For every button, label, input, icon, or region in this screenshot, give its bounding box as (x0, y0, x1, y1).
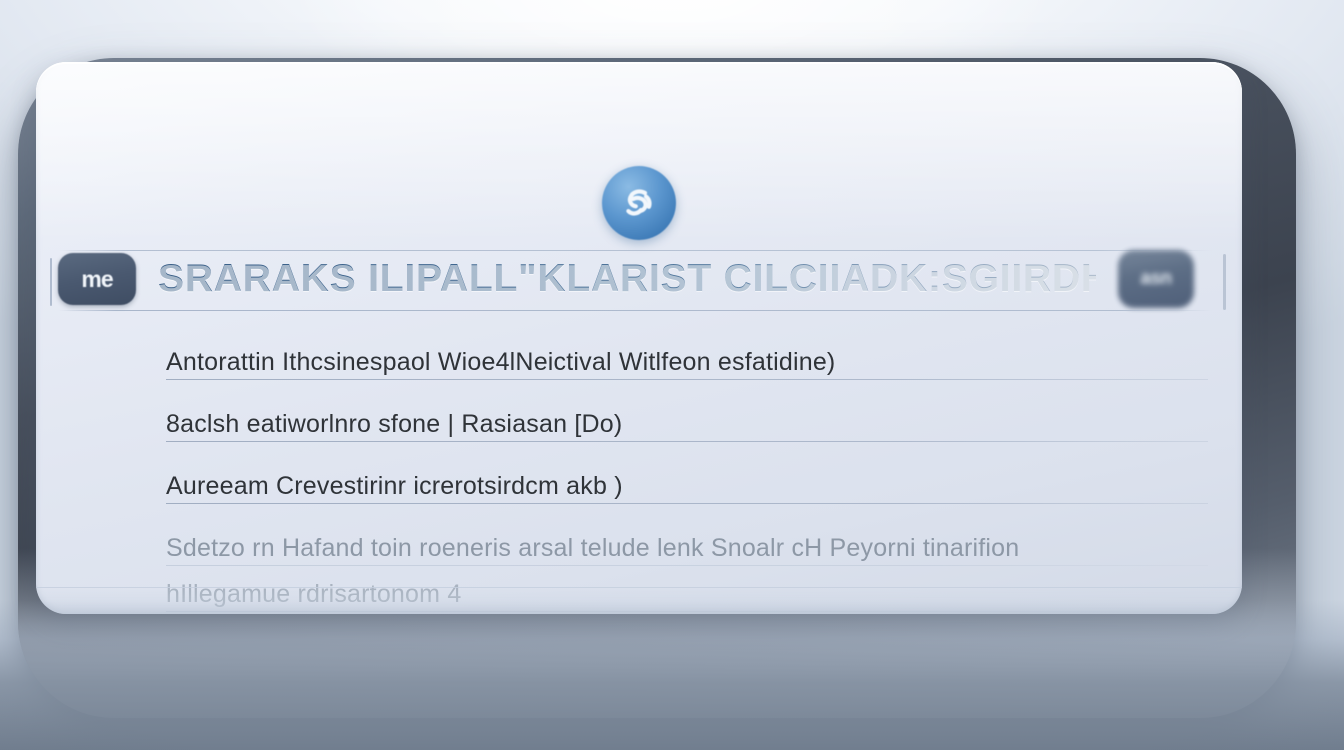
list-item-label: 8aclsh eatiworlnro sfone | Rasiasan [Do) (166, 410, 622, 443)
list-item-label: Antorattin Ithcsinespaol Wioe4lNeictival… (166, 348, 835, 381)
body-list: Antorattin Ithcsinespaol Wioe4lNeictival… (166, 330, 1208, 613)
list-item-rule (166, 441, 1208, 442)
left-edge-tick (50, 258, 52, 306)
status-badge[interactable]: asn (1118, 250, 1194, 308)
list-item[interactable]: Antorattin Ithcsinespaol Wioe4lNeictival… (166, 330, 1208, 381)
swirl-logo-icon (602, 166, 676, 240)
logo-container (36, 166, 1242, 240)
list-item-label: Sdetzo rn Hafand toin roeneris arsal tel… (166, 534, 1019, 567)
list-item[interactable]: Sdetzo rn Hafand toin roeneris arsal tel… (166, 505, 1208, 567)
list-item[interactable]: 8aclsh eatiworlnro sfone | Rasiasan [Do) (166, 381, 1208, 443)
list-item-rule (166, 565, 1208, 566)
scene-root: me SRARAKS ILIPALL"KLARIST CILCIIADK:SGI… (0, 0, 1344, 750)
list-item-label: Aureeam Crevestirinr icrerotsirdcm akb ) (166, 472, 623, 505)
right-edge-tick (1223, 254, 1226, 310)
header-divider-bottom (58, 310, 1212, 311)
header-row: me SRARAKS ILIPALL"KLARIST CILCIIADK:SGI… (58, 246, 1212, 312)
table-surface (0, 600, 1344, 750)
list-item-rule (166, 379, 1208, 380)
menu-badge[interactable]: me (58, 253, 136, 305)
info-card: me SRARAKS ILIPALL"KLARIST CILCIIADK:SGI… (36, 62, 1242, 614)
list-item[interactable]: Aureeam Crevestirinr icrerotsirdcm akb ) (166, 443, 1208, 505)
page-title: SRARAKS ILIPALL"KLARIST CILCIIADK:SGIIRD… (158, 257, 1096, 301)
list-item-rule (166, 503, 1208, 504)
